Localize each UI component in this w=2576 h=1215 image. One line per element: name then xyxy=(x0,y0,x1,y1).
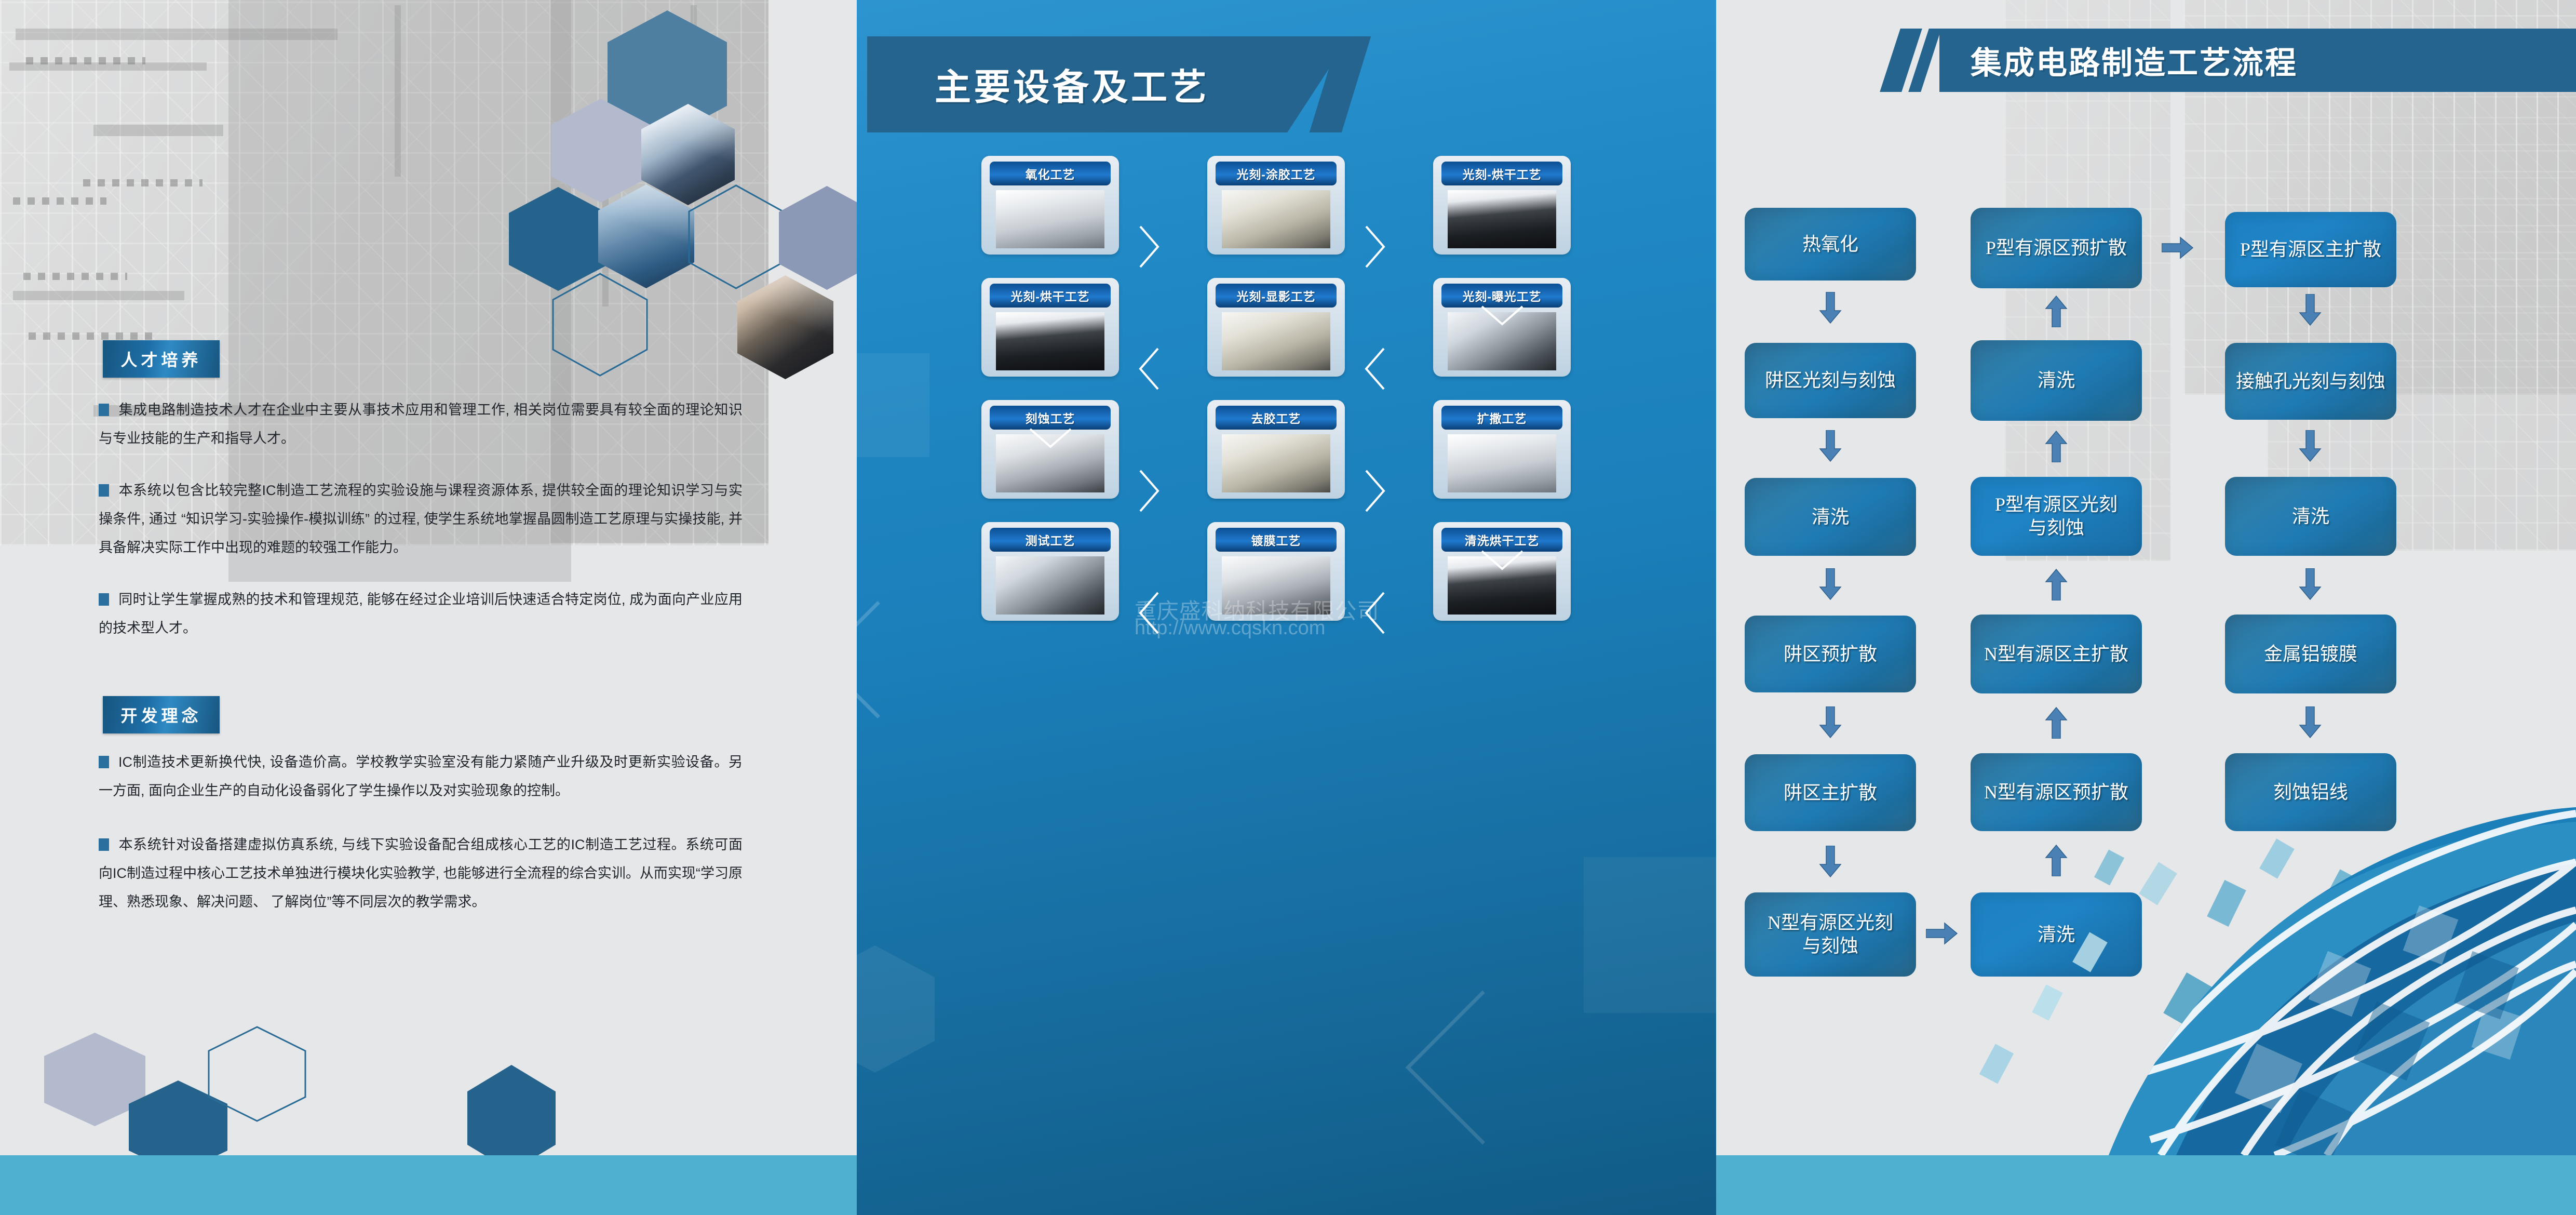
equipment-photo xyxy=(1448,190,1556,248)
paragraph-text: 集成电路制造技术人才在企业中主要从事技术应用和管理工作, 相关岗位需要具有较全面… xyxy=(99,402,743,446)
equipment-label: 光刻-烘干工艺 xyxy=(1441,162,1562,185)
hexagon-bottom-outline xyxy=(208,1026,306,1122)
center-panel: 主要设备及工艺 氧化工艺 光刻-涂胶工艺 光刻-烘干工艺 光刻-烘干工艺 xyxy=(857,0,1716,1215)
texture-bar-1 xyxy=(16,29,338,40)
arrow-up-icon xyxy=(2045,430,2068,462)
arrow-down-icon xyxy=(1819,568,1842,600)
flow-box[interactable]: N型有源区光刻 与刻蚀 xyxy=(1745,892,1916,977)
equipment-card[interactable]: 光刻-烘干工艺 xyxy=(981,278,1119,377)
center-header-banner: 主要设备及工艺 xyxy=(867,36,1350,132)
hexagon-outline-lower xyxy=(552,273,648,377)
chevron-down-icon xyxy=(1027,425,1074,453)
flow-box[interactable]: 金属铝镀膜 xyxy=(2225,615,2396,693)
equipment-label: 氧化工艺 xyxy=(990,162,1111,185)
center-deco-hex xyxy=(857,945,935,1073)
equipment-card[interactable]: 氧化工艺 xyxy=(981,156,1119,255)
section-chip-label: 人才培养 xyxy=(120,347,201,371)
flow-box-label: 清洗 xyxy=(2292,505,2329,528)
chevron-right-icon xyxy=(1136,468,1162,517)
equipment-label: 光刻-涂胶工艺 xyxy=(1216,162,1337,185)
chevron-down-icon xyxy=(1479,547,1526,576)
arrow-down-icon xyxy=(1819,292,1842,324)
arrow-down-icon xyxy=(2299,294,2322,326)
paragraph: 集成电路制造技术人才在企业中主要从事技术应用和管理工作, 相关岗位需要具有较全面… xyxy=(99,396,743,453)
equipment-card[interactable]: 测试工艺 xyxy=(981,522,1119,621)
equipment-photo xyxy=(1222,312,1330,370)
right-bottom-strip xyxy=(1716,1155,2576,1215)
texture-dot-row-3 xyxy=(13,197,106,205)
flow-box[interactable]: N型有源区主扩散 xyxy=(1971,615,2142,693)
flow-box[interactable]: P型有源区主扩散 xyxy=(2225,212,2396,287)
bullet-square-icon xyxy=(99,756,109,768)
flow-box[interactable]: 清洗 xyxy=(1971,340,2142,421)
flow-box-label: P型有源区预扩散 xyxy=(1986,236,2127,260)
section-body-talent: 集成电路制造技术人才在企业中主要从事技术应用和管理工作, 相关岗位需要具有较全面… xyxy=(99,396,743,643)
paragraph: 同时让学生掌握成熟的技术和管理规范, 能够在经过企业培训后快速适合特定岗位, 成… xyxy=(99,585,743,643)
arrow-down-icon xyxy=(1819,430,1842,462)
wave-globe-graphic xyxy=(1953,688,2576,1155)
texture-dot-row-5 xyxy=(29,332,153,340)
equipment-card[interactable]: 去胶工艺 xyxy=(1207,400,1345,499)
bullet-square-icon xyxy=(99,593,109,606)
flow-box-label: N型有源区光刻 与刻蚀 xyxy=(1768,911,1893,958)
flow-box-label: 阱区主扩散 xyxy=(1784,781,1877,805)
flow-box-label: 阱区预扩散 xyxy=(1784,643,1877,666)
equipment-label: 扩撒工艺 xyxy=(1441,406,1562,430)
texture-dot-row-4 xyxy=(23,273,127,280)
flow-box[interactable]: 阱区光刻与刻蚀 xyxy=(1745,343,1916,418)
arrow-down-icon xyxy=(2299,430,2322,462)
equipment-card[interactable]: 光刻-涂胶工艺 xyxy=(1207,156,1345,255)
paragraph-text: 本系统以包含比较完整IC制造工艺流程的实验设施与课程资源体系, 提供较全面的理论… xyxy=(99,483,743,556)
flow-box[interactable]: 热氧化 xyxy=(1745,208,1916,281)
flow-box-label: 金属铝镀膜 xyxy=(2264,643,2357,666)
equipment-photo xyxy=(996,312,1104,370)
chevron-right-icon xyxy=(1362,468,1388,517)
chevron-left-icon xyxy=(1362,345,1388,395)
center-deco-square-2 xyxy=(1584,857,1716,1013)
flow-box[interactable]: P型有源区光刻 与刻蚀 xyxy=(1971,477,2142,556)
equipment-photo xyxy=(1448,434,1556,492)
arrow-right-icon xyxy=(2162,236,2194,259)
section-body-concept: IC制造技术更新换代快, 设备造价高。学校教学实验室没有能力紧随产业升级及时更新… xyxy=(99,748,743,917)
equipment-card[interactable]: 光刻-显影工艺 xyxy=(1207,278,1345,377)
flow-box[interactable]: 阱区主扩散 xyxy=(1745,754,1916,831)
watermark-url: http://www.cqskn.com xyxy=(1135,617,1325,639)
right-panel: 集成电路制造工艺流程 热氧化 P型有源区预扩散 P型有源区主扩散 阱区光刻与刻蚀… xyxy=(1716,0,2576,1215)
paragraph-text: 本系统针对设备搭建虚拟仿真系统, 与线下实验设备配合组成核心工艺的IC制造工艺过… xyxy=(99,837,743,910)
arrow-down-icon xyxy=(1819,846,1842,878)
texture-bar-4 xyxy=(13,291,184,300)
paragraph-text: IC制造技术更新换代快, 设备造价高。学校教学实验室没有能力紧随产业升级及时更新… xyxy=(99,754,743,798)
hexagon-solid-slate xyxy=(779,186,857,290)
right-panel-title: 集成电路制造工艺流程 xyxy=(1971,38,2298,83)
equipment-photo xyxy=(1222,434,1330,492)
bullet-square-icon xyxy=(99,404,109,416)
center-deco-square-1 xyxy=(857,353,929,457)
arrow-down-icon xyxy=(2299,568,2322,600)
section-chip-label: 开发理念 xyxy=(120,703,201,727)
equipment-photo xyxy=(996,556,1104,615)
bullet-square-icon xyxy=(99,838,109,851)
bullet-square-icon xyxy=(99,484,109,497)
equipment-photo xyxy=(996,190,1104,248)
texture-dot-row-2 xyxy=(83,179,203,186)
right-header-banner: 集成电路制造工艺流程 xyxy=(1939,29,2576,92)
flow-box-label: P型有源区主扩散 xyxy=(2240,238,2381,261)
left-bottom-strip xyxy=(0,1155,857,1215)
hexagon-outline-upper xyxy=(688,184,784,289)
flow-box-label: 接触孔光刻与刻蚀 xyxy=(2236,370,2385,393)
flow-box-label: 清洗 xyxy=(2038,369,2075,392)
flow-box-label: 清洗 xyxy=(1812,505,1849,529)
equipment-photo xyxy=(1222,190,1330,248)
equipment-label: 光刻-显影工艺 xyxy=(1216,284,1337,308)
arrow-down-icon xyxy=(1819,706,1842,739)
texture-vbar-1 xyxy=(395,5,401,177)
arrow-up-icon xyxy=(2045,568,2068,600)
equipment-card[interactable]: 光刻-烘干工艺 xyxy=(1433,156,1571,255)
poster-root: 人才培养 集成电路制造技术人才在企业中主要从事技术应用和管理工作, 相关岗位需要… xyxy=(0,0,2576,1215)
flow-box-label: 热氧化 xyxy=(1802,233,1858,256)
flow-box[interactable]: 清洗 xyxy=(2225,477,2396,556)
paragraph: 本系统以包含比较完整IC制造工艺流程的实验设施与课程资源体系, 提供较全面的理论… xyxy=(99,476,743,563)
equipment-label: 光刻-烘干工艺 xyxy=(990,284,1111,308)
center-deco-chevron-2 xyxy=(1406,991,1560,1145)
texture-dot-row-1 xyxy=(26,57,145,64)
paragraph-text: 同时让学生掌握成熟的技术和管理规范, 能够在经过企业培训后快速适合特定岗位, 成… xyxy=(99,592,743,636)
section-chip-concept: 开发理念 xyxy=(103,696,220,733)
arrow-up-icon xyxy=(2045,295,2068,327)
equipment-label: 测试工艺 xyxy=(990,528,1111,552)
center-panel-title: 主要设备及工艺 xyxy=(935,58,1209,111)
equipment-label: 去胶工艺 xyxy=(1216,406,1337,430)
flow-box[interactable]: P型有源区预扩散 xyxy=(1971,208,2142,288)
flow-box[interactable]: 接触孔光刻与刻蚀 xyxy=(2225,343,2396,420)
equipment-label: 镀膜工艺 xyxy=(1216,528,1337,552)
paragraph: IC制造技术更新换代快, 设备造价高。学校教学实验室没有能力紧随产业升级及时更新… xyxy=(99,748,743,806)
chevron-down-icon xyxy=(1479,302,1526,331)
flow-box[interactable]: 阱区预扩散 xyxy=(1745,616,1916,692)
texture-bar-3 xyxy=(93,125,223,136)
left-panel: 人才培养 集成电路制造技术人才在企业中主要从事技术应用和管理工作, 相关岗位需要… xyxy=(0,0,857,1215)
flow-box-label: P型有源区光刻 与刻蚀 xyxy=(1995,493,2118,540)
chevron-right-icon xyxy=(1136,223,1162,273)
flow-box-label: 阱区光刻与刻蚀 xyxy=(1765,369,1896,392)
flow-box-label: N型有源区主扩散 xyxy=(1984,643,2128,666)
center-deco-chevron-1 xyxy=(857,601,936,718)
section-chip-talent: 人才培养 xyxy=(103,340,220,378)
chevron-right-icon xyxy=(1362,223,1388,273)
paragraph: 本系统针对设备搭建虚拟仿真系统, 与线下实验设备配合组成核心工艺的IC制造工艺过… xyxy=(99,831,743,917)
flow-box[interactable]: 清洗 xyxy=(1745,478,1916,556)
equipment-card[interactable]: 扩撒工艺 xyxy=(1433,400,1571,499)
chevron-left-icon xyxy=(1136,345,1162,395)
